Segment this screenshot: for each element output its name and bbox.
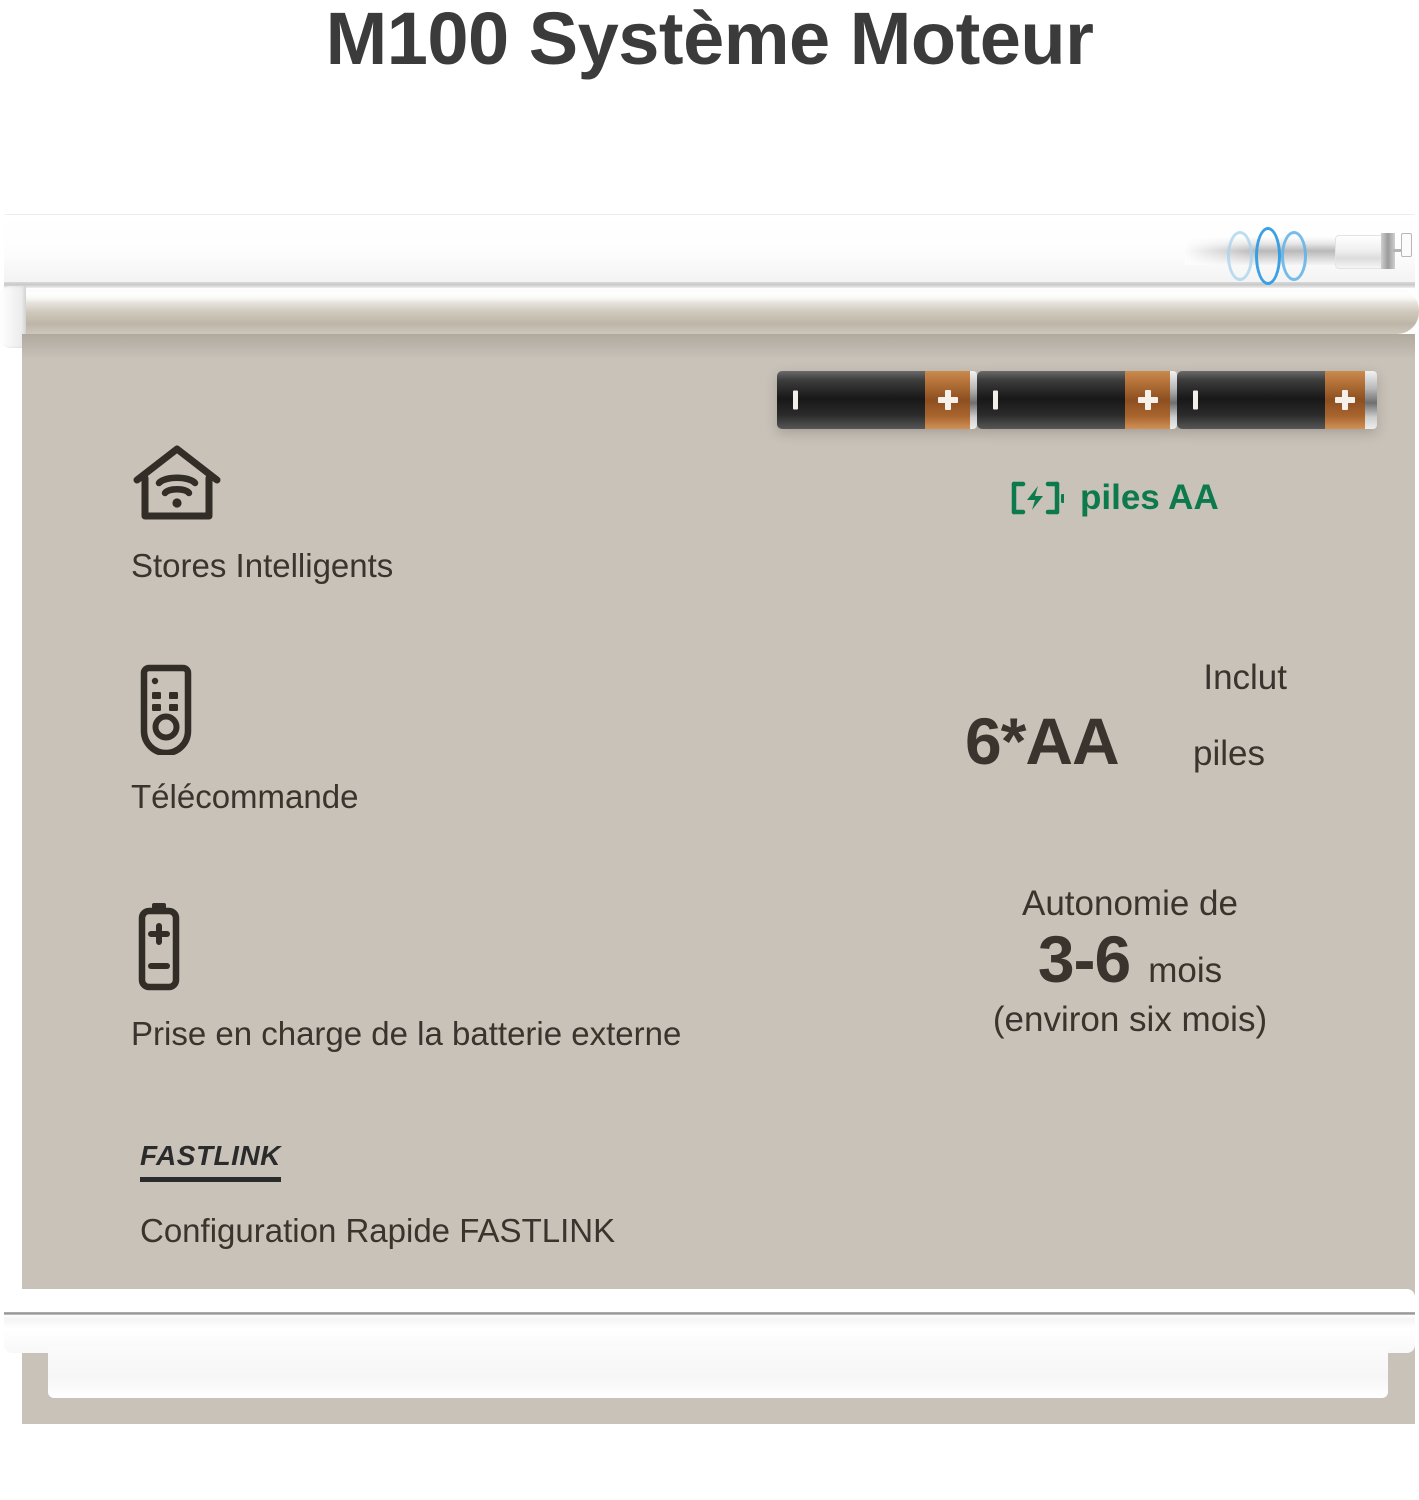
motor-chip (1401, 233, 1412, 257)
feature-external-battery: Prise en charge de la batterie externe (131, 900, 681, 1053)
aa-batteries-graphic (777, 369, 1381, 431)
signal-ring-icon (1227, 231, 1253, 281)
page-title: M100 Système Moteur (0, 2, 1419, 76)
bottom-rail-seam (4, 1312, 1415, 1315)
bottom-rail-lower (48, 1346, 1388, 1398)
battery-metal-tip (1170, 371, 1177, 429)
runtime-note: (environ six mois) (965, 1000, 1295, 1040)
feature-label: Télécommande (131, 778, 358, 816)
motor-tube-graphic (1185, 231, 1410, 271)
battery-plus-terminal (1138, 390, 1158, 410)
battery-body (1177, 371, 1325, 429)
piles-aa-label: piles AA (1080, 478, 1219, 518)
signal-ring-icon (1281, 231, 1307, 281)
signal-ring-icon (1255, 227, 1281, 285)
battery-minus-terminal (793, 391, 798, 410)
product-infographic: M100 Système Moteur (0, 0, 1419, 1500)
feature-remote-control: Télécommande (131, 663, 358, 816)
battery-metal-tip (1365, 371, 1377, 429)
piles-aa-badge: piles AA (1010, 478, 1219, 518)
bottom-rail (4, 1289, 1415, 1353)
included-unit: piles (1193, 734, 1265, 774)
battery-positive-cap (1125, 371, 1170, 429)
included-value: 6*AA (965, 708, 1119, 774)
feature-label: Stores Intelligents (131, 547, 393, 585)
battery-minus-terminal (1193, 391, 1198, 410)
roller-tube-highlight (0, 292, 1419, 302)
feature-label: Prise en charge de la batterie externe (131, 1015, 681, 1053)
battery-icon (131, 900, 681, 997)
fastlink-label: Configuration Rapide FASTLINK (140, 1212, 615, 1250)
battery-positive-cap (925, 371, 970, 429)
included-batteries-block: Inclut 6*AA piles (965, 658, 1295, 788)
battery-charging-icon (1010, 480, 1064, 516)
battery-unit (977, 371, 1177, 429)
battery-positive-cap (1325, 371, 1365, 429)
runtime-unit: mois (1148, 951, 1222, 991)
blind-fabric-shadow (22, 334, 1415, 360)
runtime-prefix: Autonomie de (965, 884, 1295, 924)
runtime-value: 3-6 (1038, 926, 1130, 992)
battery-plus-terminal (1335, 390, 1355, 410)
feature-fastlink: FASTLINK Configuration Rapide FASTLINK (140, 1140, 615, 1250)
fastlink-logo: FASTLINK (140, 1140, 281, 1182)
battery-minus-terminal (993, 391, 998, 410)
battery-body (977, 371, 1125, 429)
runtime-value-row: 3-6 mois (965, 926, 1295, 992)
battery-body (777, 371, 925, 429)
included-prefix: Inclut (1203, 658, 1287, 698)
runtime-block: Autonomie de 3-6 mois (environ six mois) (965, 884, 1295, 1041)
battery-unit (777, 371, 977, 429)
battery-unit (1177, 371, 1377, 429)
remote-control-icon (131, 663, 358, 760)
feature-smart-blinds: Stores Intelligents (131, 444, 393, 585)
battery-metal-tip (970, 371, 977, 429)
battery-plus-terminal (938, 390, 958, 410)
smart-home-wifi-icon (131, 444, 393, 529)
